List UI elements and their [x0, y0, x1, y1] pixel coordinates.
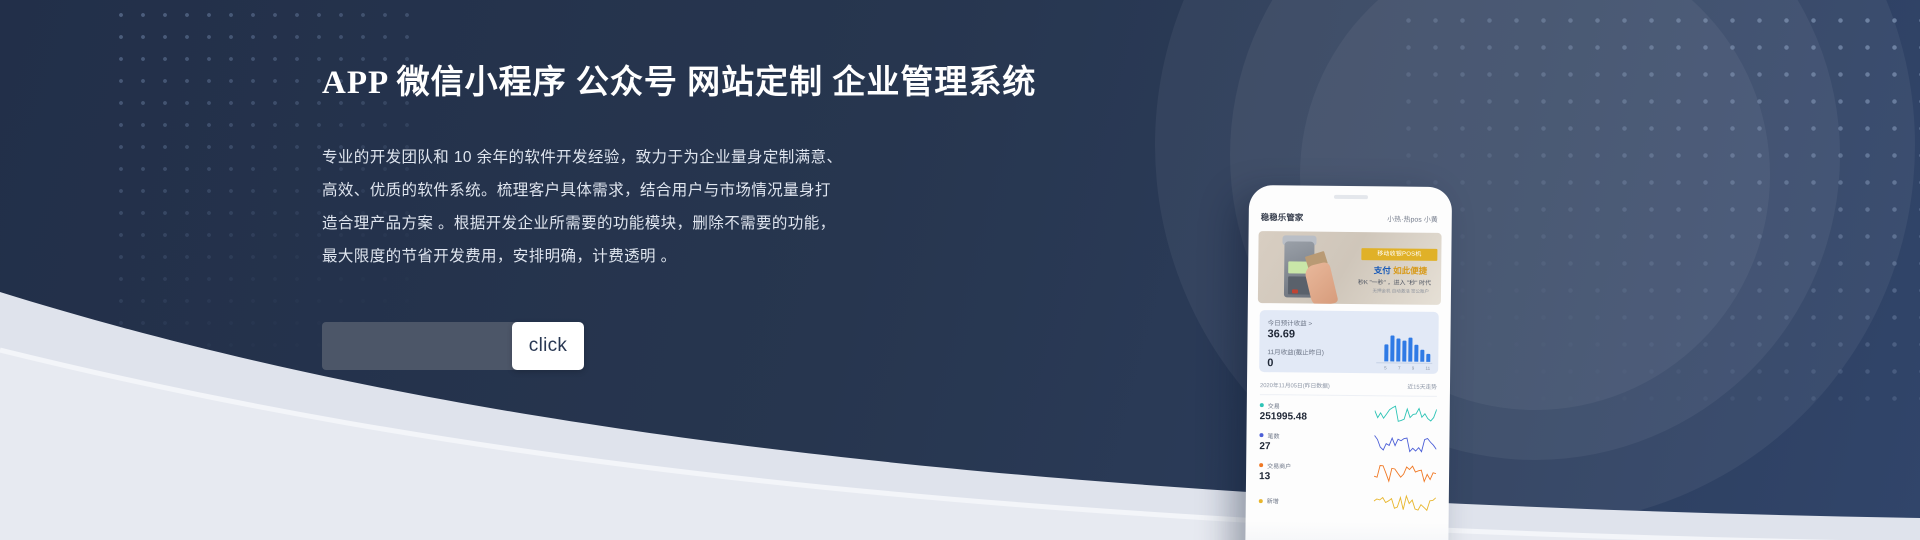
stat-name: 笔数 [1267, 431, 1279, 440]
paragraph-line: 专业的开发团队和 10 余年的软件开发经验，致力于为企业量身定制满意、 [322, 141, 982, 174]
app-brand: 稳稳乐管家 [1261, 211, 1304, 223]
stats-trend-label: 近15天走势 [1407, 382, 1437, 391]
phone-speaker [1333, 195, 1367, 199]
status-dot [1259, 433, 1263, 437]
bar [1414, 345, 1418, 362]
stat-row-name-group: 笔数 [1259, 431, 1279, 440]
bar [1420, 350, 1424, 362]
sparkline [1374, 461, 1436, 484]
hand-illustration [1304, 261, 1339, 305]
axis-tick: 11 [1425, 366, 1430, 371]
bar [1396, 339, 1400, 362]
axis-tick: 7 [1398, 366, 1401, 371]
earnings-card[interactable]: 今日预计收益 > 36.69 11月收益(截止昨日) 0 57911 [1259, 310, 1439, 374]
pos-cancel-key [1292, 289, 1298, 293]
banner-headline-primary: 支付 [1374, 265, 1391, 275]
phone-screen: 稳稳乐管家 小热·热pos 小黄 移动收银POS机 支付 如此便捷 秒K "一秒… [1253, 205, 1444, 540]
banner-chips: 无押金机 自动激活 签公账户 [1372, 288, 1429, 295]
status-dot [1259, 499, 1263, 503]
axis-tick: 5 [1384, 365, 1387, 370]
stat-row-name-group: 交易 [1260, 401, 1307, 410]
stat-row-text: 新增 [1259, 496, 1279, 506]
stat-row-name-group: 交易商户 [1259, 461, 1291, 470]
stat-row-text: 笔数27 [1259, 431, 1279, 452]
click-button[interactable]: click [512, 322, 584, 370]
stat-name: 交易商户 [1267, 461, 1291, 470]
cta-group: click [322, 322, 562, 370]
stat-name: 交易 [1268, 401, 1280, 410]
sparkline [1374, 431, 1436, 454]
status-dot [1259, 463, 1263, 467]
stat-row-text: 交易251995.48 [1260, 401, 1307, 422]
stat-row[interactable]: 笔数27 [1259, 425, 1436, 457]
stats-date-label: 2020年11月05日(昨日数据) [1260, 380, 1330, 390]
banner-tag: 移动收银POS机 [1361, 248, 1437, 261]
banner-subline: 秒K "一秒" ，进入 "秒" 时代 [1358, 277, 1431, 287]
status-dot [1260, 403, 1264, 407]
app-user: 小热·热pos 小黄 [1387, 214, 1438, 225]
paragraph-line: 最大限度的节省开发费用，安排明确，计费透明 。 [322, 240, 982, 273]
stat-row-text: 交易商户13 [1259, 461, 1291, 482]
stats-list: 2020年11月05日(昨日数据) 近15天走势 交易251995.48笔数27… [1259, 380, 1437, 517]
earnings-bar-chart [1384, 335, 1430, 361]
earnings-chart-axis: 57911 [1384, 365, 1430, 370]
promo-banner[interactable]: 移动收银POS机 支付 如此便捷 秒K "一秒" ，进入 "秒" 时代 无押金机… [1258, 231, 1442, 305]
stat-value: 13 [1259, 471, 1291, 482]
app-header: 稳稳乐管家 小热·热pos 小黄 [1257, 205, 1444, 233]
bar [1390, 335, 1394, 361]
paragraph-line: 高效、优质的软件系统。梳理客户具体需求，结合用户与市场情况量身打 [322, 174, 982, 207]
bar [1426, 354, 1430, 362]
phone-mockup: 稳稳乐管家 小热·热pos 小黄 移动收银POS机 支付 如此便捷 秒K "一秒… [1245, 185, 1452, 540]
stat-value: 27 [1259, 441, 1279, 452]
axis-tick: 9 [1412, 366, 1415, 371]
bar [1408, 338, 1412, 362]
page-title: APP 微信小程序 公众号 网站定制 企业管理系统 [322, 62, 982, 105]
stat-name: 新增 [1267, 496, 1279, 505]
hero-copy: APP 微信小程序 公众号 网站定制 企业管理系统 专业的开发团队和 10 余年… [322, 62, 982, 273]
paragraph-line: 造合理产品方案 。根据开发企业所需要的功能模块，删除不需要的功能， [322, 207, 982, 240]
stat-row[interactable]: 交易251995.48 [1260, 395, 1437, 427]
bar [1402, 340, 1406, 361]
stat-row-name-group: 新增 [1259, 496, 1279, 505]
stat-row[interactable]: 交易商户13 [1259, 455, 1436, 487]
hero-banner: APP 微信小程序 公众号 网站定制 企业管理系统 专业的开发团队和 10 余年… [0, 0, 1920, 540]
sparkline [1375, 401, 1437, 424]
stat-value: 251995.48 [1260, 411, 1307, 422]
banner-headline-secondary: 如此便捷 [1393, 265, 1427, 275]
hero-paragraph: 专业的开发团队和 10 余年的软件开发经验，致力于为企业量身定制满意、 高效、优… [322, 141, 982, 273]
banner-headline: 支付 如此便捷 [1374, 264, 1428, 277]
bar [1384, 345, 1388, 362]
stat-row[interactable]: 新增 [1259, 485, 1436, 517]
today-earnings-label: 今日预计收益 > [1268, 317, 1431, 329]
sparkline [1374, 491, 1436, 514]
